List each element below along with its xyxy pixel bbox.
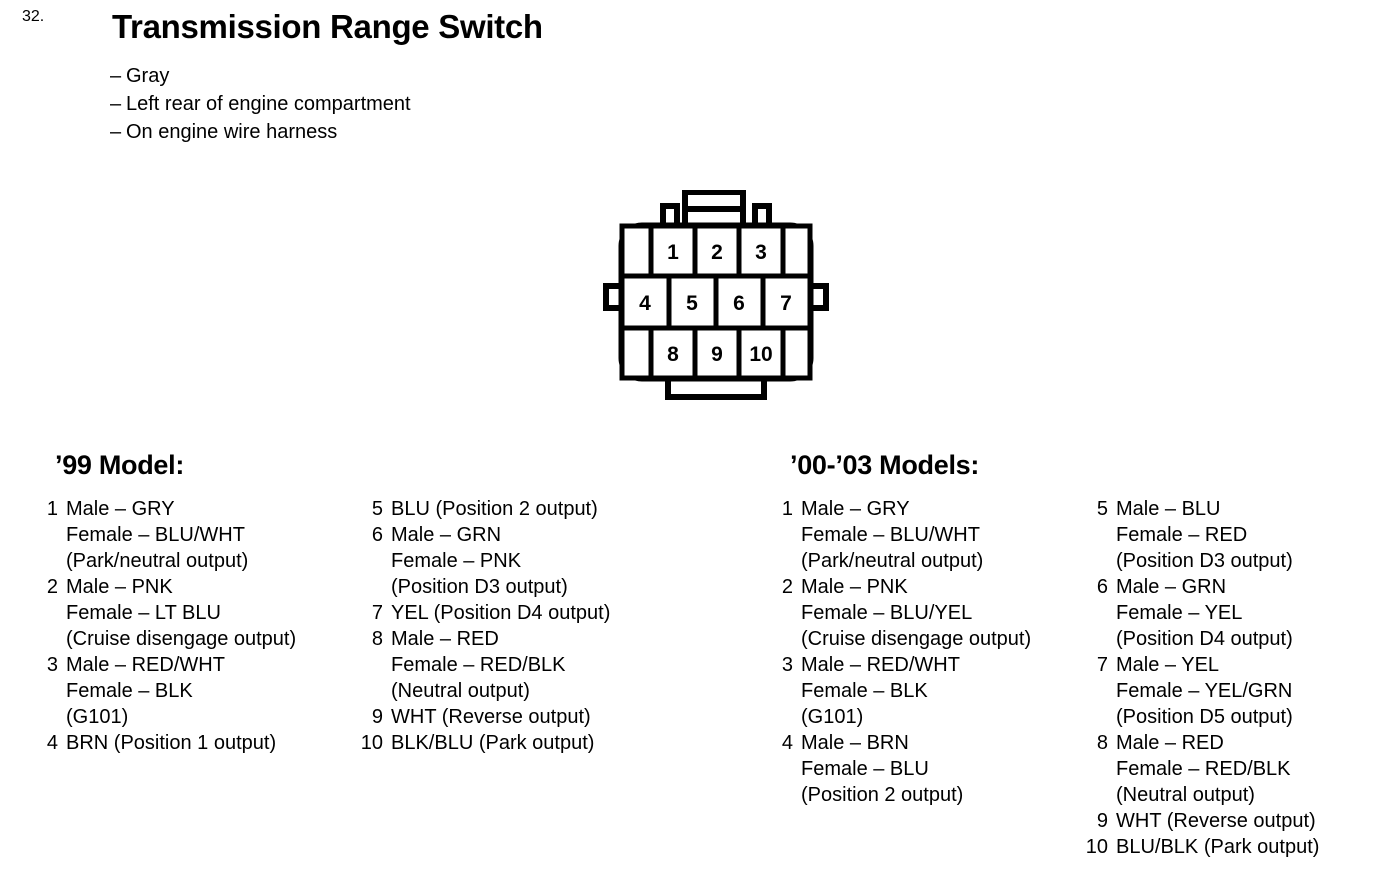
pin-entry-line: Male – BLU bbox=[1116, 496, 1390, 522]
pin-label-9: 9 bbox=[711, 343, 723, 366]
pin-entry: 7YEL (Position D4 output) bbox=[355, 600, 685, 626]
pin-label-1: 1 bbox=[667, 241, 679, 264]
connector-pinout-diagram: 1 2 3 4 5 6 7 8 9 10 bbox=[600, 190, 850, 415]
pin-entry-lines: Male – YELFemale – YEL/GRN(Position D5 o… bbox=[1116, 652, 1390, 730]
pin-entry-line: Female – RED bbox=[1116, 522, 1390, 548]
pin-entry-line: Male – GRY bbox=[66, 496, 360, 522]
model-heading: ’99 Model: bbox=[55, 450, 184, 481]
pin-entry-line: Female – BLU bbox=[801, 756, 1085, 782]
pin-entry-line: BLU/BLK (Park output) bbox=[1116, 834, 1390, 860]
connector-top-latch bbox=[685, 192, 743, 226]
pin-entry-number: 4 bbox=[765, 730, 793, 756]
pin-entry-line: Male – PNK bbox=[801, 574, 1085, 600]
connector-description-item: –Left rear of engine compartment bbox=[110, 90, 810, 118]
pin-entry-line: Male – PNK bbox=[66, 574, 360, 600]
pin-entry-line: (Position 2 output) bbox=[801, 782, 1085, 808]
pin-entry: 4Male – BRNFemale – BLU(Position 2 outpu… bbox=[765, 730, 1085, 808]
pin-entry-number: 1 bbox=[30, 496, 58, 522]
pin-entry-number: 5 bbox=[355, 496, 383, 522]
pin-entry-lines: Male – PNKFemale – LT BLU(Cruise disenga… bbox=[66, 574, 360, 652]
connector-description-item: –On engine wire harness bbox=[110, 118, 810, 146]
pin-entry-line: Male – GRN bbox=[1116, 574, 1390, 600]
pin-entry-lines: WHT (Reverse output) bbox=[1116, 808, 1390, 834]
pin-label-6: 6 bbox=[733, 292, 745, 315]
pin-entry-line: Female – BLU/WHT bbox=[801, 522, 1085, 548]
pin-entry-line: (Position D3 output) bbox=[1116, 548, 1390, 574]
pin-entry-number: 1 bbox=[765, 496, 793, 522]
pin-column-a: 1Male – GRYFemale – BLU/WHT(Park/neutral… bbox=[30, 496, 360, 756]
pin-entry-number: 2 bbox=[765, 574, 793, 600]
pin-entry-line: (Position D3 output) bbox=[391, 574, 685, 600]
pin-entry-number: 9 bbox=[355, 704, 383, 730]
pin-entry-number: 6 bbox=[355, 522, 383, 548]
pin-entry-lines: Male – GRYFemale – BLU/WHT(Park/neutral … bbox=[66, 496, 360, 574]
pin-entry-line: Female – BLU/YEL bbox=[801, 600, 1085, 626]
pin-entry-lines: Male – REDFemale – RED/BLK(Neutral outpu… bbox=[1116, 730, 1390, 808]
model-heading: ’00-’03 Models: bbox=[790, 450, 979, 481]
pin-entry-lines: YEL (Position D4 output) bbox=[391, 600, 685, 626]
pin-entry-line: BLU (Position 2 output) bbox=[391, 496, 685, 522]
pin-label-8: 8 bbox=[667, 343, 679, 366]
pin-entry: 10BLK/BLU (Park output) bbox=[355, 730, 685, 756]
pin-entry-line: (Position D5 output) bbox=[1116, 704, 1390, 730]
pin-entry-lines: Male – REDFemale – RED/BLK(Neutral outpu… bbox=[391, 626, 685, 704]
pin-entry-lines: BLK/BLU (Park output) bbox=[391, 730, 685, 756]
pin-entry-lines: Male – PNKFemale – BLU/YEL(Cruise diseng… bbox=[801, 574, 1085, 652]
pin-entry-line: WHT (Reverse output) bbox=[1116, 808, 1390, 834]
pin-entry: 1Male – GRYFemale – BLU/WHT(Park/neutral… bbox=[765, 496, 1085, 574]
pin-entry-lines: Male – RED/WHTFemale – BLK(G101) bbox=[66, 652, 360, 730]
pin-entry-line: Female – BLK bbox=[801, 678, 1085, 704]
pin-entry-line: Male – RED bbox=[391, 626, 685, 652]
pin-entry-line: (Neutral output) bbox=[391, 678, 685, 704]
pin-entry-line: Male – RED bbox=[1116, 730, 1390, 756]
pin-label-7: 7 bbox=[780, 292, 792, 315]
pin-entry-line: BLK/BLU (Park output) bbox=[391, 730, 685, 756]
pin-entry-line: Female – RED/BLK bbox=[1116, 756, 1390, 782]
pin-entry-line: (Position D4 output) bbox=[1116, 626, 1390, 652]
pin-label-5: 5 bbox=[686, 292, 698, 315]
pin-entry-lines: BLU/BLK (Park output) bbox=[1116, 834, 1390, 860]
pin-entry-line: Male – GRN bbox=[391, 522, 685, 548]
pin-entry: 7Male – YELFemale – YEL/GRN(Position D5 … bbox=[1080, 652, 1390, 730]
pin-entry-line: Male – RED/WHT bbox=[801, 652, 1085, 678]
bullet-label: Gray bbox=[126, 65, 169, 87]
pin-entry-line: (Cruise disengage output) bbox=[801, 626, 1085, 652]
pin-entry: 9WHT (Reverse output) bbox=[355, 704, 685, 730]
pin-entry-line: Female – LT BLU bbox=[66, 600, 360, 626]
bullet-dash: – bbox=[110, 90, 126, 118]
pin-entry-line: Female – BLU/WHT bbox=[66, 522, 360, 548]
pin-label-3: 3 bbox=[755, 241, 767, 264]
pin-entry-lines: Male – BLUFemale – RED(Position D3 outpu… bbox=[1116, 496, 1390, 574]
pin-entry: 2Male – PNKFemale – LT BLU(Cruise diseng… bbox=[30, 574, 360, 652]
pin-entry-line: (G101) bbox=[801, 704, 1085, 730]
pin-entry-number: 7 bbox=[1080, 652, 1108, 678]
pin-entry-number: 5 bbox=[1080, 496, 1108, 522]
pin-label-4: 4 bbox=[639, 292, 651, 315]
pin-column-b: 5Male – BLUFemale – RED(Position D3 outp… bbox=[1080, 496, 1390, 860]
pin-entry-line: (Park/neutral output) bbox=[801, 548, 1085, 574]
pin-entry: 6Male – GRNFemale – YEL(Position D4 outp… bbox=[1080, 574, 1390, 652]
pin-entry-line: Female – YEL/GRN bbox=[1116, 678, 1390, 704]
pin-entry: 4BRN (Position 1 output) bbox=[30, 730, 360, 756]
pin-entry-number: 9 bbox=[1080, 808, 1108, 834]
pin-entry-lines: Male – GRYFemale – BLU/WHT(Park/neutral … bbox=[801, 496, 1085, 574]
pin-entry-lines: WHT (Reverse output) bbox=[391, 704, 685, 730]
bullet-dash: – bbox=[110, 62, 126, 90]
pin-entry-lines: BLU (Position 2 output) bbox=[391, 496, 685, 522]
pin-entry: 5BLU (Position 2 output) bbox=[355, 496, 685, 522]
bullet-label: On engine wire harness bbox=[126, 121, 337, 143]
bullet-label: Left rear of engine compartment bbox=[126, 93, 411, 115]
pin-entry-lines: Male – GRNFemale – PNK(Position D3 outpu… bbox=[391, 522, 685, 600]
bullet-dash: – bbox=[110, 118, 126, 146]
pin-entry-number: 8 bbox=[355, 626, 383, 652]
pin-label-2: 2 bbox=[711, 241, 723, 264]
pin-column-b: 5BLU (Position 2 output)6Male – GRNFemal… bbox=[355, 496, 685, 756]
pin-entry-line: Female – BLK bbox=[66, 678, 360, 704]
pin-entry-line: Female – RED/BLK bbox=[391, 652, 685, 678]
pin-entry-lines: BRN (Position 1 output) bbox=[66, 730, 360, 756]
pin-entry: 9WHT (Reverse output) bbox=[1080, 808, 1390, 834]
pin-entry: 10BLU/BLK (Park output) bbox=[1080, 834, 1390, 860]
pin-column-a: 1Male – GRYFemale – BLU/WHT(Park/neutral… bbox=[765, 496, 1085, 808]
pin-label-10: 10 bbox=[749, 343, 772, 366]
pin-entry-line: WHT (Reverse output) bbox=[391, 704, 685, 730]
pin-entry: 6Male – GRNFemale – PNK(Position D3 outp… bbox=[355, 522, 685, 600]
pin-entry-lines: Male – RED/WHTFemale – BLK(G101) bbox=[801, 652, 1085, 730]
pin-entry-line: (Park/neutral output) bbox=[66, 548, 360, 574]
document-header: 32. Transmission Range Switch bbox=[22, 8, 1362, 52]
pin-entry-number: 10 bbox=[355, 730, 383, 756]
pin-entry: 3Male – RED/WHTFemale – BLK(G101) bbox=[765, 652, 1085, 730]
pin-entry: 8Male – REDFemale – RED/BLK(Neutral outp… bbox=[1080, 730, 1390, 808]
pin-entry: 8Male – REDFemale – RED/BLK(Neutral outp… bbox=[355, 626, 685, 704]
pin-entry-line: BRN (Position 1 output) bbox=[66, 730, 360, 756]
pin-entry-number: 8 bbox=[1080, 730, 1108, 756]
pin-entry: 5Male – BLUFemale – RED(Position D3 outp… bbox=[1080, 496, 1390, 574]
connector-description-item: –Gray bbox=[110, 62, 810, 90]
pin-entry-line: Female – YEL bbox=[1116, 600, 1390, 626]
pin-entry-number: 2 bbox=[30, 574, 58, 600]
pin-entry-line: Male – RED/WHT bbox=[66, 652, 360, 678]
pin-entry-line: Female – PNK bbox=[391, 548, 685, 574]
page-title: Transmission Range Switch bbox=[112, 8, 543, 46]
pin-entry: 2Male – PNKFemale – BLU/YEL(Cruise disen… bbox=[765, 574, 1085, 652]
pin-entry-number: 3 bbox=[30, 652, 58, 678]
pin-entry: 1Male – GRYFemale – BLU/WHT(Park/neutral… bbox=[30, 496, 360, 574]
pin-entry-line: YEL (Position D4 output) bbox=[391, 600, 685, 626]
connector-description-list: –Gray–Left rear of engine compartment–On… bbox=[110, 62, 810, 146]
pin-entry-line: Male – BRN bbox=[801, 730, 1085, 756]
pin-entry-line: (Neutral output) bbox=[1116, 782, 1390, 808]
pin-entry-number: 3 bbox=[765, 652, 793, 678]
pin-entry-lines: Male – BRNFemale – BLU(Position 2 output… bbox=[801, 730, 1085, 808]
pin-entry-number: 7 bbox=[355, 600, 383, 626]
pin-entry-line: (G101) bbox=[66, 704, 360, 730]
pin-entry-number: 4 bbox=[30, 730, 58, 756]
pin-entry: 3Male – RED/WHTFemale – BLK(G101) bbox=[30, 652, 360, 730]
pin-entry-line: (Cruise disengage output) bbox=[66, 626, 360, 652]
pin-entry-number: 10 bbox=[1080, 834, 1108, 860]
pin-entry-lines: Male – GRNFemale – YEL(Position D4 outpu… bbox=[1116, 574, 1390, 652]
pin-entry-number: 6 bbox=[1080, 574, 1108, 600]
pin-entry-line: Male – YEL bbox=[1116, 652, 1390, 678]
pin-entry-line: Male – GRY bbox=[801, 496, 1085, 522]
